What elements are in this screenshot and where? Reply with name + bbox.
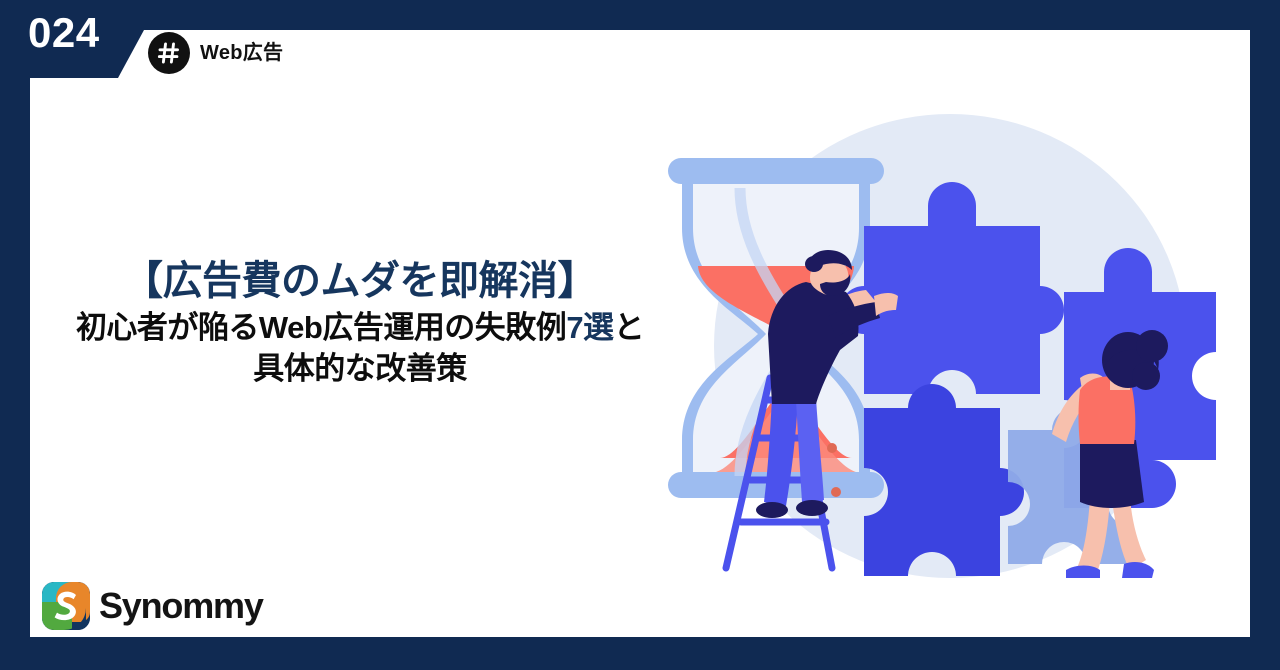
tag-label: Web広告 bbox=[200, 40, 283, 66]
headline-line-1: 【広告費のムダを即解消】 bbox=[30, 255, 690, 307]
headline-line-2: 初心者が陥るWeb広告運用の失敗例7選と bbox=[30, 307, 690, 348]
headline-line-2-text-b: と bbox=[614, 310, 645, 345]
brand-name: Synommy bbox=[99, 586, 263, 626]
headline-line-3: 具体的な改善策 bbox=[30, 348, 690, 389]
issue-number: 024 bbox=[28, 12, 100, 54]
brand-logo: Synommy bbox=[42, 582, 263, 630]
tag-strip bbox=[118, 30, 1250, 78]
slide-canvas: 024 Web広告 【広告費のムダを即解消】 初心者が陥るWeb広告運用の失敗例… bbox=[0, 0, 1280, 670]
headline-block: 【広告費のムダを即解消】 初心者が陥るWeb広告運用の失敗例7選と 具体的な改善… bbox=[30, 255, 690, 389]
header-band bbox=[0, 0, 1280, 78]
synommy-logo-icon bbox=[42, 582, 90, 630]
hash-icon bbox=[148, 32, 190, 74]
puzzle-teamwork-hourglass-illustration bbox=[660, 78, 1220, 598]
headline-line-2-text-a: 初心者が陥るWeb広告運用の失敗例 bbox=[76, 310, 566, 345]
headline-line-2-accent: 7選 bbox=[566, 310, 613, 345]
